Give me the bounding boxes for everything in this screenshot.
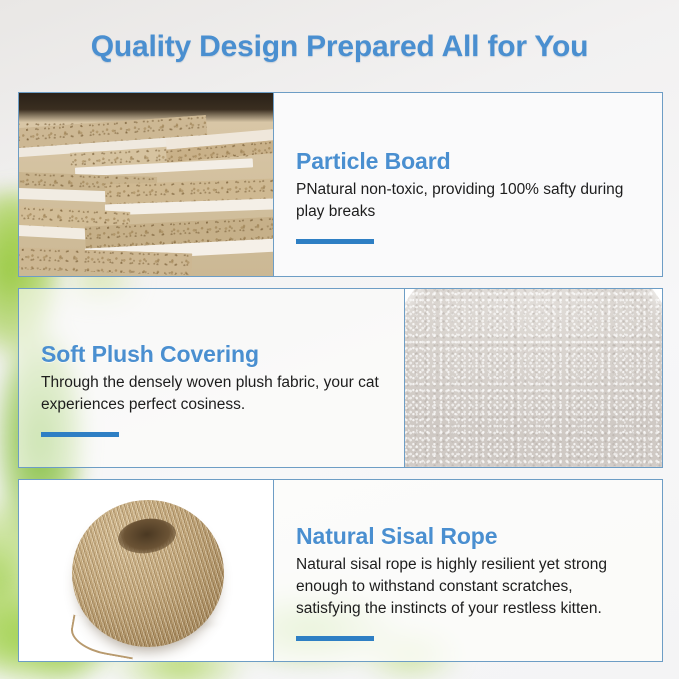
- feature-card-natural-sisal-rope: Natural Sisal Rope Natural sisal rope is…: [18, 479, 663, 662]
- soft-plush-text-panel: Soft Plush Covering Through the densely …: [19, 289, 405, 467]
- sisal-rope-image: [19, 480, 273, 661]
- card-body: Natural sisal rope is highly resilient y…: [296, 554, 640, 620]
- card-body: PNatural non-toxic, providing 100% safty…: [296, 179, 636, 223]
- card-title: Natural Sisal Rope: [296, 523, 640, 550]
- card-title: Soft Plush Covering: [41, 341, 382, 368]
- plush-texture: [405, 289, 662, 467]
- infographic-page: Quality Design Prepared All for You: [0, 0, 679, 679]
- plush-fabric-image: [405, 289, 662, 467]
- particle-board-photo: [19, 93, 273, 276]
- accent-bar: [296, 636, 374, 641]
- particle-board-text-panel: Particle Board PNatural non-toxic, provi…: [273, 93, 662, 276]
- feature-card-soft-plush-covering: Soft Plush Covering Through the densely …: [18, 288, 663, 468]
- page-title: Quality Design Prepared All for You: [0, 30, 679, 64]
- card-body: Through the densely woven plush fabric, …: [41, 372, 381, 416]
- plush-dome: [405, 289, 662, 467]
- accent-bar: [296, 239, 374, 244]
- accent-bar: [41, 432, 119, 437]
- sisal-rope-text-panel: Natural Sisal Rope Natural sisal rope is…: [273, 480, 662, 661]
- card-title: Particle Board: [296, 148, 640, 175]
- feature-card-particle-board: Particle Board PNatural non-toxic, provi…: [18, 92, 663, 277]
- sisal-rope-photo: [19, 480, 273, 661]
- plush-fabric-photo: [405, 289, 662, 467]
- particle-board-image: [19, 93, 273, 276]
